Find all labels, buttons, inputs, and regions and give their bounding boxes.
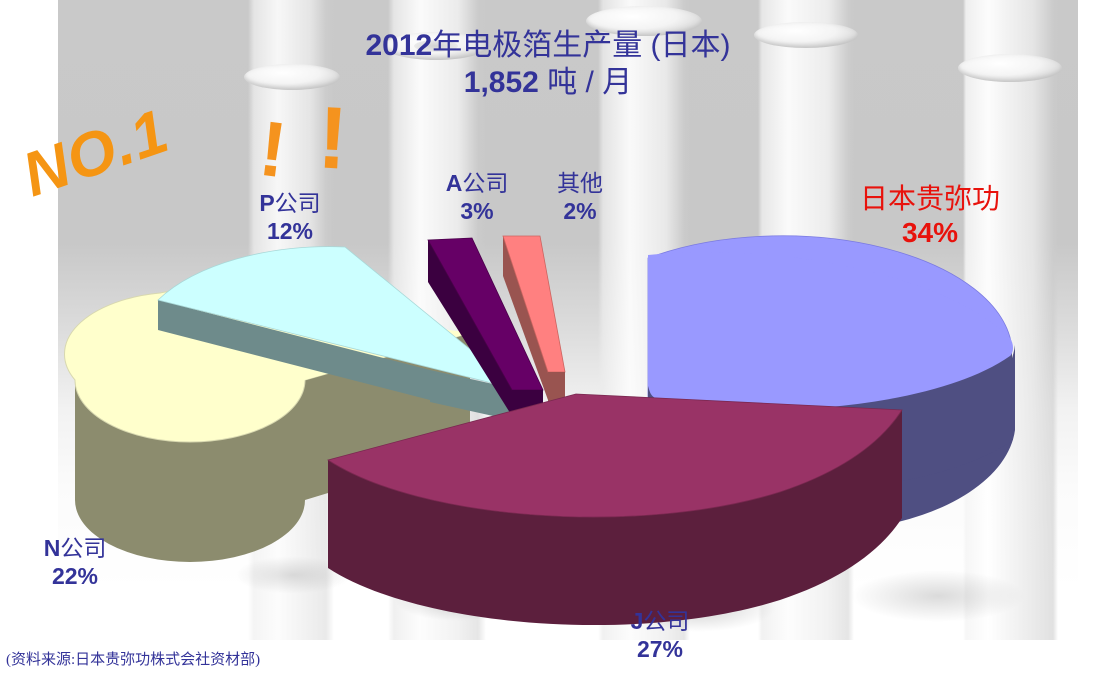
source-note: (资料来源:日本贵弥功株式会社资材部) <box>6 648 260 669</box>
slide-canvas: 2012年电极箔生产量 (日本) 1,852 吨 / 月 NO.1 ! ! <box>0 0 1096 678</box>
exclamation-mark-2: ! <box>316 93 350 182</box>
pie-chart <box>0 0 1096 678</box>
